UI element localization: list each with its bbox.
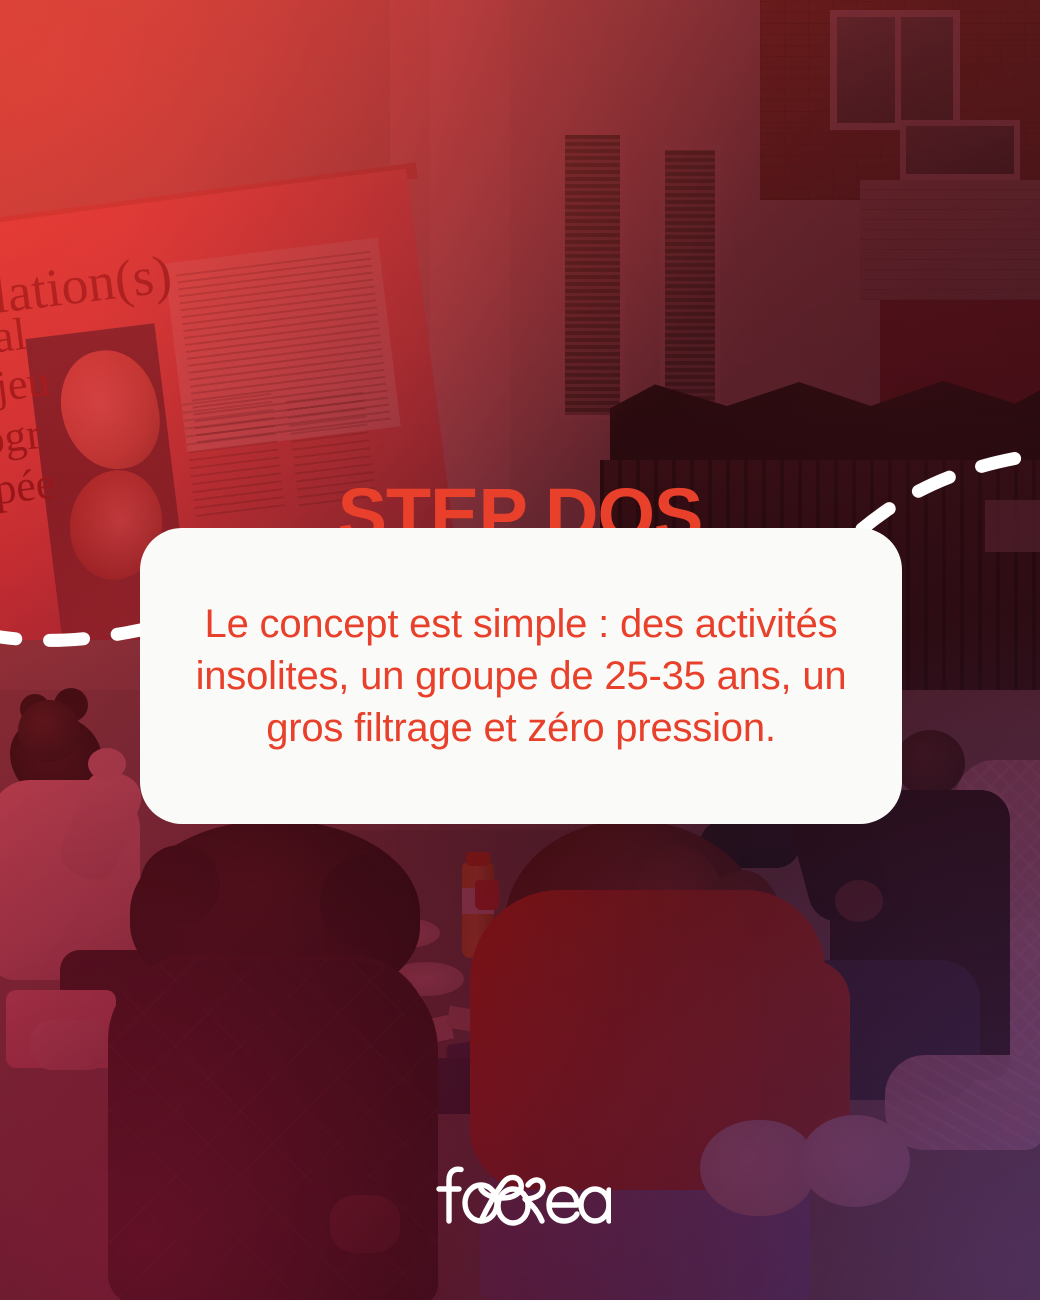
dashed-accent-line-left xyxy=(0,628,150,640)
brand-logo[interactable]: foReal xyxy=(0,1162,1040,1228)
poster-canvas: ulation(s) val a jeu togr opée Cente xyxy=(0,0,1040,1300)
card-body-text: Le concept est simple : des activités in… xyxy=(164,598,879,754)
foreal-logo-icon[interactable] xyxy=(429,1164,611,1226)
content-card: Le concept est simple : des activités in… xyxy=(140,528,902,824)
